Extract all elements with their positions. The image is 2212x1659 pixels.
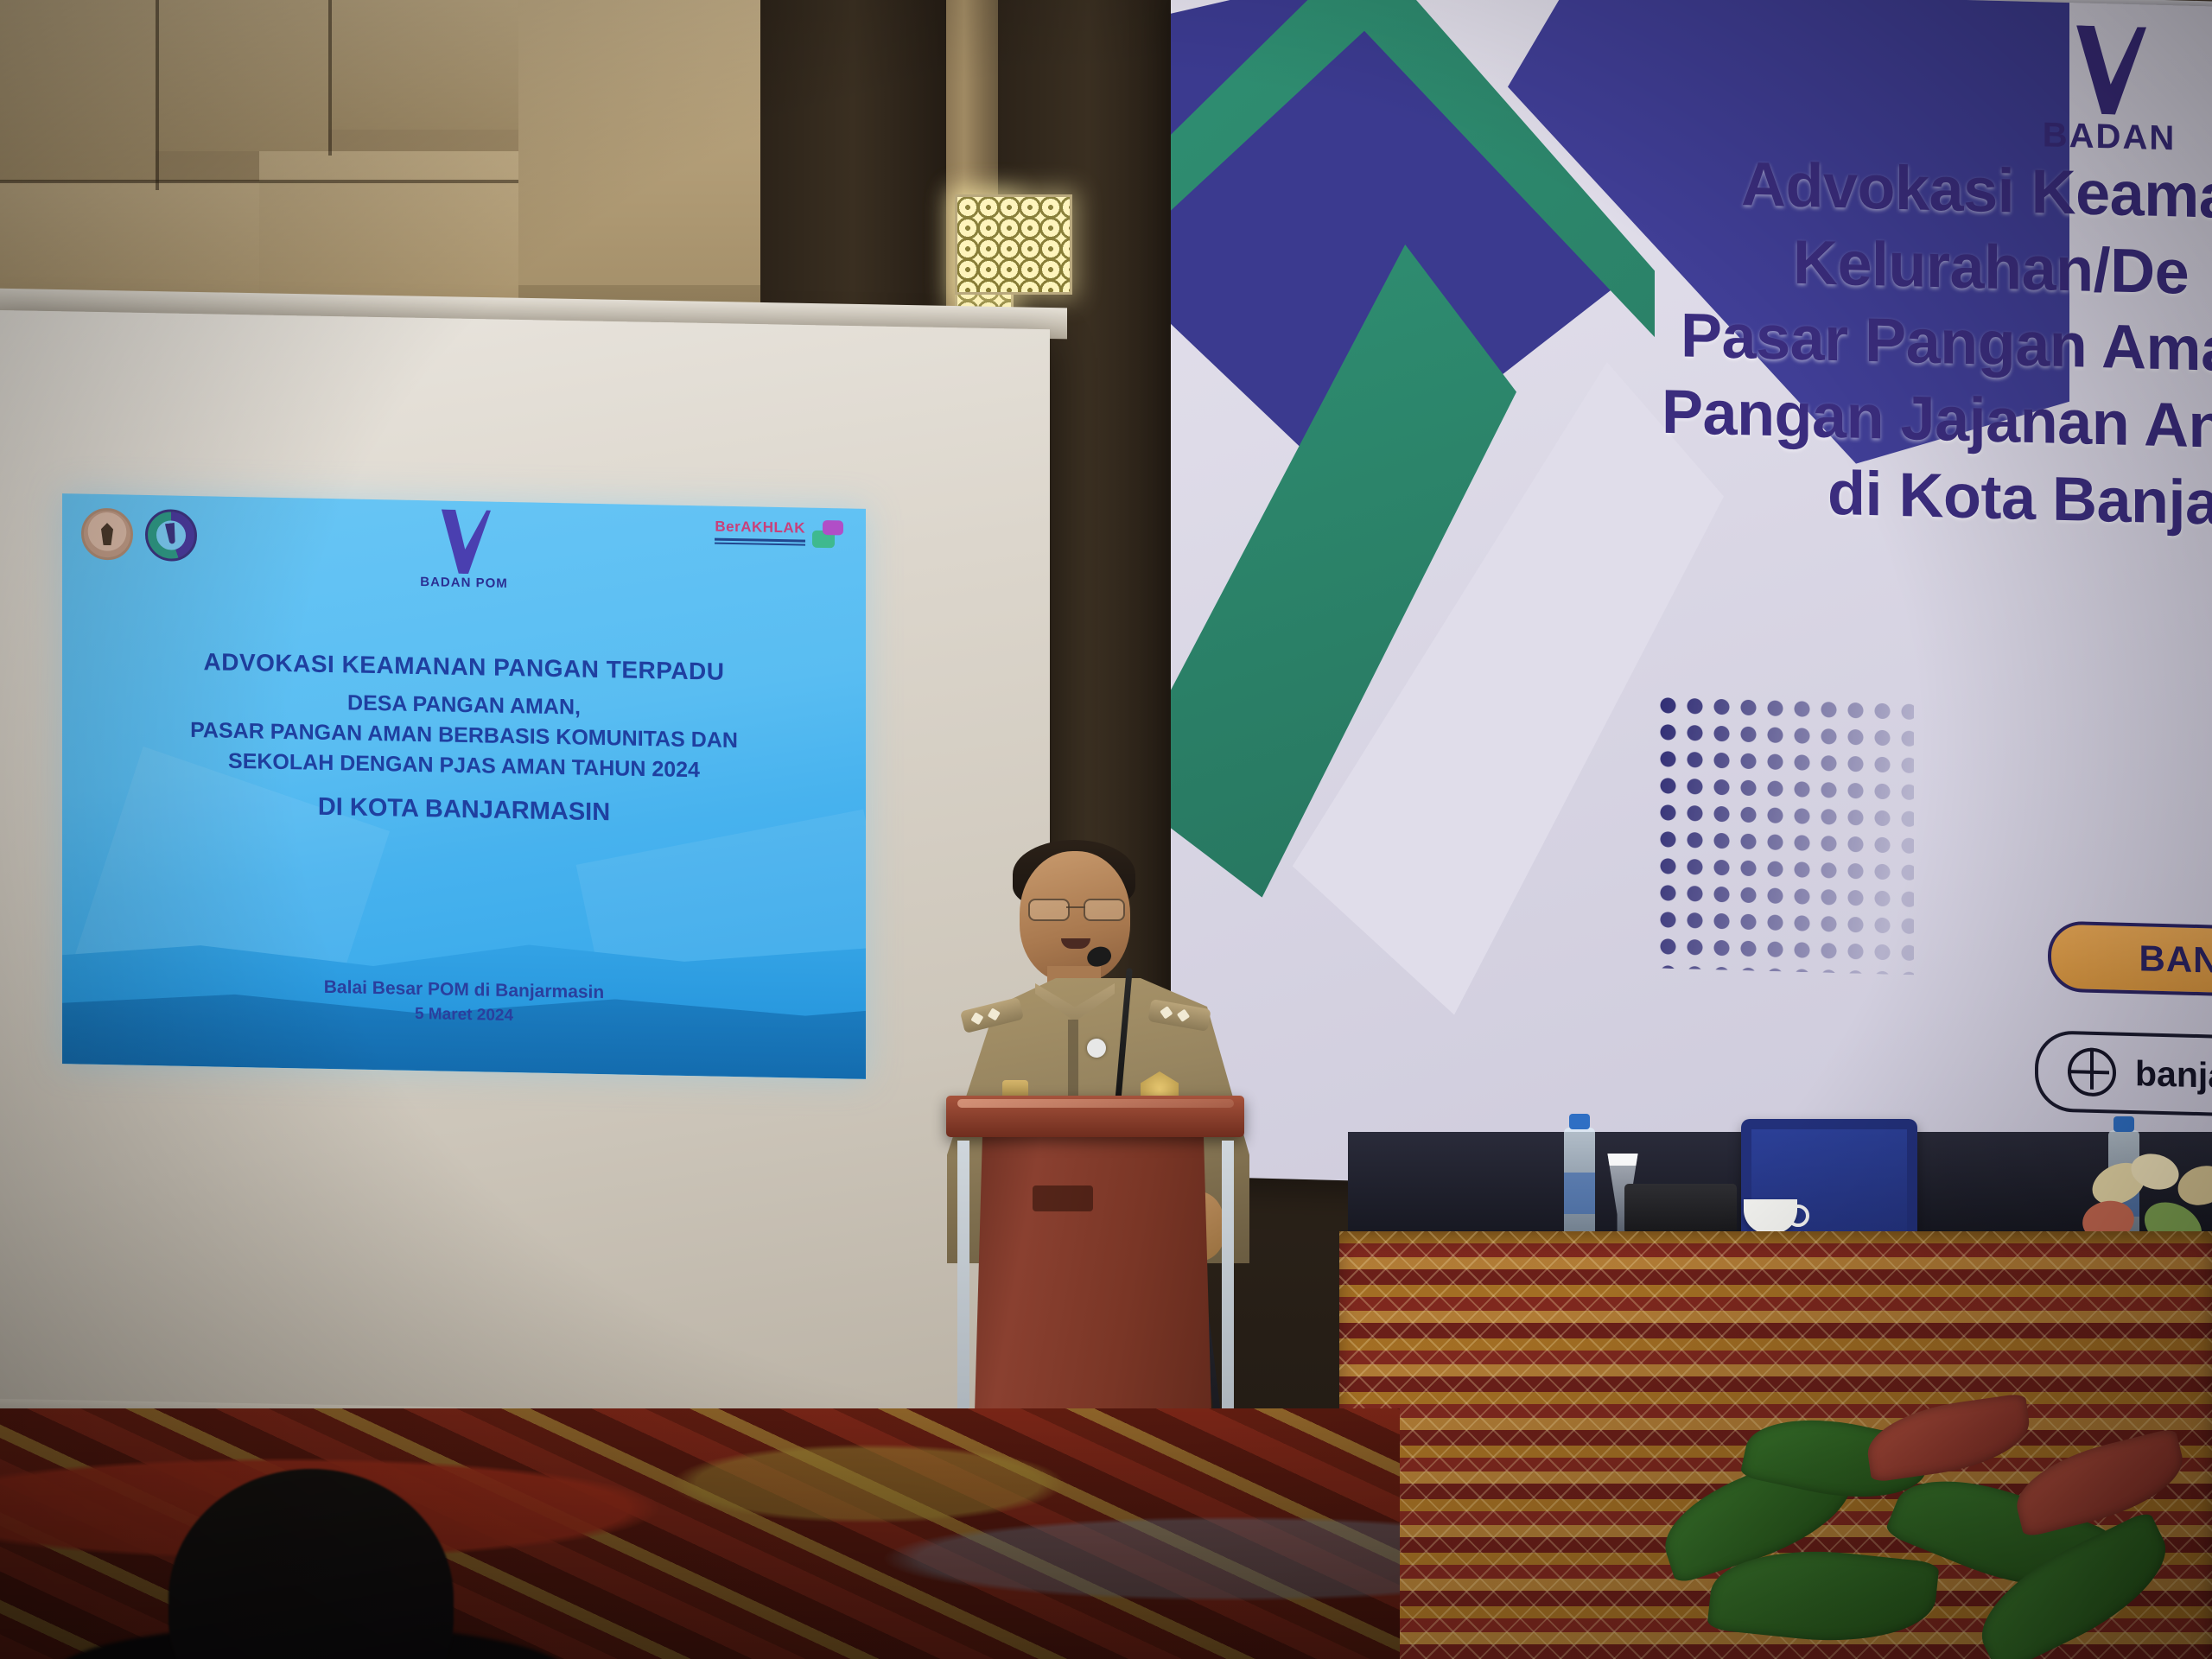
slide-title-line-1: ADVOKASI KEAMANAN PANGAN TERPADU <box>62 645 866 689</box>
slide-badan-pom-word: BADAN POM <box>420 575 508 591</box>
berakhlak-badge-icon <box>812 520 847 550</box>
wall-seam <box>0 180 518 183</box>
backlit-lattice-panel-top <box>955 194 1072 295</box>
berakhlak-wordmark: BerAKHLAK <box>715 518 805 537</box>
banner-badan-pom-logo: BADAN <box>1980 22 2212 160</box>
banner-city-label: BANJARM <box>2139 938 2212 984</box>
speaker-glasses-icon <box>1028 899 1125 918</box>
globe-cursor-icon <box>2068 1047 2116 1096</box>
badan-pom-check-icon <box>437 509 491 574</box>
projected-slide: BADAN POM BerAKHLAK ADVOKASI KEAMANAN PA… <box>62 493 866 1079</box>
banner-website: banjarmasin.pom.go.id <box>2135 1053 2212 1104</box>
badan-pom-check-icon <box>2072 25 2146 115</box>
ornamental-foliage <box>1607 1370 2212 1659</box>
wall-panel-block <box>0 0 156 181</box>
slide-berakhlak-logo: BerAKHLAK <box>715 518 847 550</box>
conference-photo-scene: BADAN POM BerAKHLAK ADVOKASI KEAMANAN PA… <box>0 0 2212 1659</box>
water-bottle <box>1564 1128 1595 1240</box>
berakhlak-rule <box>715 543 805 546</box>
banner-title-block: Advokasi Keama Kelurahan/De Pasar Pangan… <box>1655 148 2212 546</box>
wall-panel-block <box>156 0 328 151</box>
banner-halftone-dots <box>1655 692 1914 976</box>
wall-panel-block <box>259 151 518 307</box>
podium-microphone-knob <box>1087 1039 1106 1058</box>
podium-edge-highlight <box>957 1099 1234 1108</box>
slide-left-logos <box>81 507 197 562</box>
slide-badan-pom-logo: BADAN POM <box>420 509 508 591</box>
av-device <box>1624 1184 1737 1234</box>
wall-seam <box>328 0 332 156</box>
garuda-emblem-icon <box>81 507 133 560</box>
wall-seam <box>156 0 159 190</box>
banner-badan-pom-word: BADAN <box>1980 114 2212 160</box>
event-backdrop-banner: BADAN Advokasi Keama Kelurahan/De Pasar … <box>1171 0 2212 1204</box>
slide-title-block: ADVOKASI KEAMANAN PANGAN TERPADU DESA PA… <box>62 645 866 832</box>
wall-panel-block <box>328 0 518 130</box>
berakhlak-rule <box>715 538 805 543</box>
banner-title-line-5: di Kota Banjar <box>1655 454 2212 546</box>
banner-city-pill: BANJARM <box>2048 920 2212 1001</box>
badan-pom-circular-icon <box>145 509 197 562</box>
podium-front-panel <box>1033 1185 1093 1211</box>
wall-panel-block <box>518 0 760 285</box>
